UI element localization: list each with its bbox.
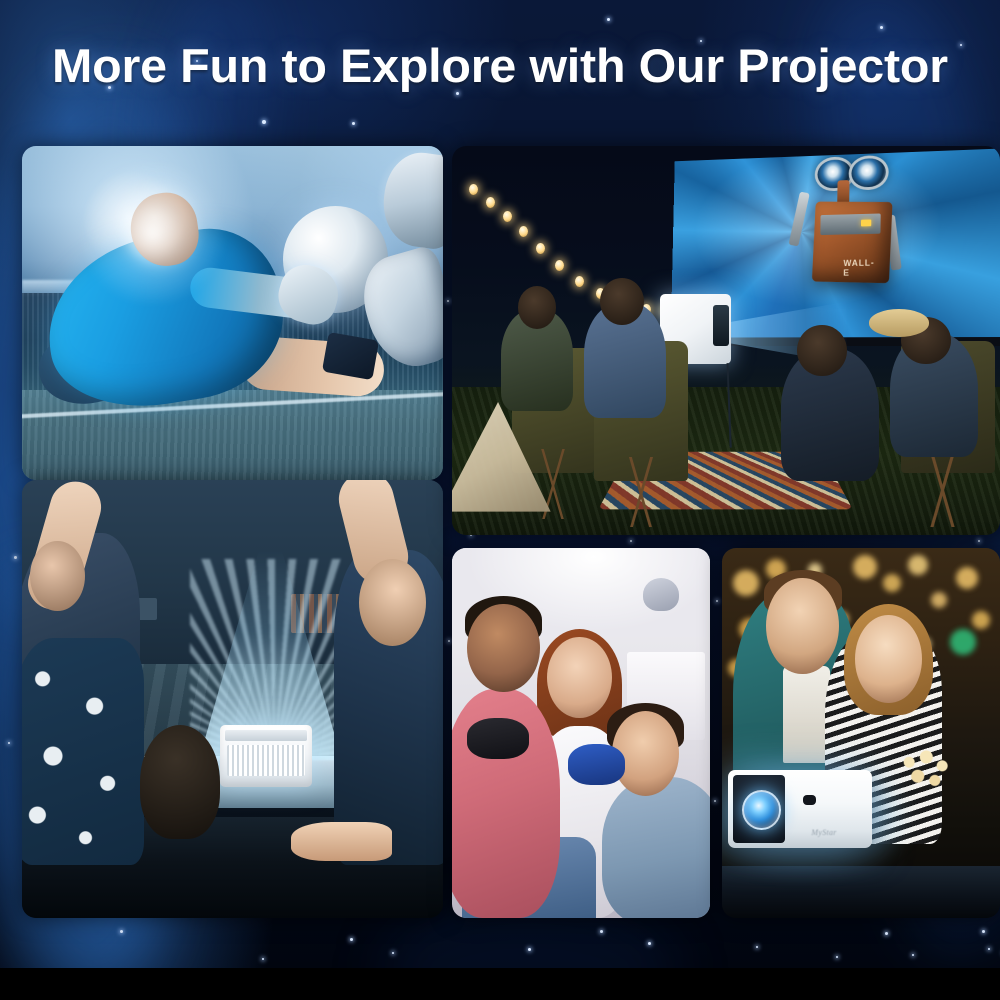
camping-chair-legs bbox=[594, 457, 687, 527]
straw-hat bbox=[869, 309, 929, 336]
bokeh-light bbox=[956, 567, 978, 589]
string-light-bulb bbox=[575, 276, 584, 287]
bokeh-light bbox=[950, 629, 976, 655]
woman-head bbox=[855, 615, 922, 704]
projector-vent-grille bbox=[227, 745, 305, 776]
panel-soccer bbox=[22, 146, 443, 480]
gamer-left-head bbox=[467, 604, 539, 693]
camper-head bbox=[518, 286, 556, 329]
bokeh-light bbox=[931, 592, 947, 608]
gaming-photo bbox=[452, 548, 710, 918]
viewer-center-head-back bbox=[140, 725, 220, 839]
living-room-photo bbox=[22, 480, 443, 918]
walle-eye-right bbox=[848, 155, 888, 191]
projector-lens bbox=[742, 790, 781, 830]
viewer-right-head bbox=[359, 559, 426, 647]
page-title: More Fun to Explore with Our Projector bbox=[0, 38, 1000, 94]
gamer-center-head bbox=[547, 637, 612, 718]
camping-movie-photo: WALL-E bbox=[452, 146, 1000, 535]
goalkeeper-photo bbox=[22, 146, 443, 480]
panel-camping: WALL-E bbox=[452, 146, 1000, 535]
gamer-right-torso bbox=[602, 777, 710, 918]
camping-chair-legs bbox=[890, 449, 994, 527]
game-controller-blue bbox=[568, 744, 625, 785]
man-white-shirt bbox=[783, 666, 830, 762]
man-head bbox=[766, 578, 838, 674]
projector-brand-logo: MyStar bbox=[811, 828, 860, 840]
projector-top-panel bbox=[225, 730, 306, 741]
camper-head bbox=[600, 278, 644, 325]
couple-cinema-photo: MyStar bbox=[722, 548, 1000, 918]
bottom-black-strip bbox=[0, 968, 1000, 1000]
projector-device: MyStar bbox=[728, 770, 873, 848]
viewer-right-hand bbox=[291, 822, 392, 861]
string-light-bulb bbox=[486, 197, 495, 208]
projector-device bbox=[220, 725, 313, 786]
string-light-bulb bbox=[469, 184, 478, 195]
string-light-bulb bbox=[519, 226, 528, 237]
bokeh-light bbox=[853, 555, 877, 579]
string-light-bulb bbox=[503, 211, 512, 222]
panel-living-room bbox=[22, 480, 443, 918]
marketing-collage: More Fun to Explore with Our Projector bbox=[0, 0, 1000, 1000]
bokeh-light bbox=[972, 611, 990, 629]
camper-head bbox=[797, 325, 846, 376]
game-controller-black bbox=[467, 718, 529, 759]
projector-ir-sensor bbox=[803, 795, 816, 805]
bokeh-light bbox=[733, 570, 759, 596]
walle-chest-panel bbox=[820, 213, 881, 235]
walle-eyes bbox=[815, 155, 889, 187]
bokeh-light bbox=[908, 555, 928, 575]
string-light-bulb bbox=[536, 243, 545, 254]
projector-lens bbox=[713, 305, 729, 346]
panel-couple: MyStar bbox=[722, 548, 1000, 918]
string-light-bulb bbox=[555, 260, 564, 271]
walle-name-label: WALL-E bbox=[843, 257, 877, 267]
panel-gaming bbox=[452, 548, 710, 918]
stadium-light-flare bbox=[64, 163, 241, 303]
ceiling-lamp bbox=[643, 578, 679, 611]
bokeh-light bbox=[883, 574, 901, 592]
walle-indicator-light bbox=[861, 219, 871, 227]
viewer-left-polkadot-dress bbox=[22, 638, 144, 866]
walle-arm-left bbox=[789, 192, 810, 247]
